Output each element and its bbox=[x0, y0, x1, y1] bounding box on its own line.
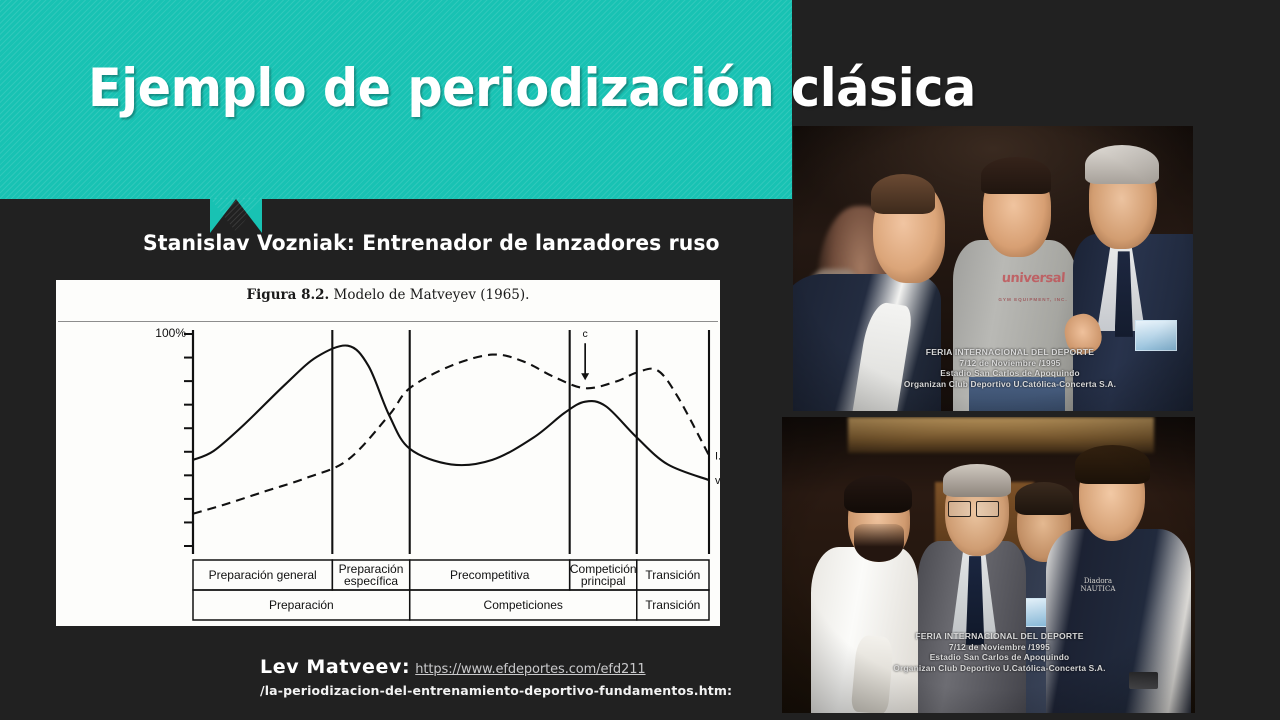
phase-label: Preparación general bbox=[209, 568, 317, 582]
phase-label: Preparación bbox=[269, 598, 334, 612]
phase-label: específica bbox=[344, 574, 398, 588]
citation-link[interactable]: https://www.efdeportes.com/efd211 bbox=[415, 662, 645, 677]
phase-divider-lines bbox=[332, 330, 709, 554]
phase-label: principal bbox=[581, 574, 626, 588]
annotation-c-label: c bbox=[583, 328, 588, 340]
citation-line-1: Lev Matveev: https://www.efdeportes.com/… bbox=[260, 655, 732, 682]
annotation-c-arrowhead bbox=[581, 373, 589, 380]
phase-label: Transición bbox=[645, 568, 700, 582]
y-axis-top-label: 100% bbox=[155, 326, 186, 340]
phase-table: Preparación generalPreparaciónespecífica… bbox=[193, 560, 709, 620]
chart-svg: 100% c I. v. Preparación generalPreparac… bbox=[56, 322, 720, 626]
figure-caption-text: Modelo de Matveyev (1965). bbox=[329, 287, 529, 303]
overlay-line: Organizan Club Deportivo U.Católica-Conc… bbox=[827, 379, 1193, 390]
intensity-curve bbox=[193, 355, 709, 514]
matveyev-chart: 100% c I. v. Preparación generalPreparac… bbox=[56, 322, 720, 626]
phase-label: Competiciones bbox=[484, 598, 563, 612]
photo-feria-group: Diadora NAUTICA FERIA INTERNACIONAL DEL … bbox=[782, 417, 1195, 713]
figure-panel: Figura 8.2. Modelo de Matveyev (1965). 1… bbox=[56, 280, 720, 626]
figure-caption: Figura 8.2. Modelo de Matveyev (1965). bbox=[56, 287, 720, 303]
citation-link-continued[interactable]: /la-periodizacion-del-entrenamiento-depo… bbox=[260, 682, 732, 700]
overlay-line: FERIA INTERNACIONAL DEL DEPORTE bbox=[827, 347, 1193, 358]
series-label-volume: v. bbox=[715, 475, 720, 487]
phase-label: Transición bbox=[645, 598, 700, 612]
photo-feria-three-men: universal GYM EQUIPMENT, INC. FERIA INTE… bbox=[793, 126, 1193, 411]
figure-caption-number: Figura 8.2. bbox=[247, 287, 330, 303]
photo-overlay-caption: FERIA INTERNACIONAL DEL DEPORTE 7/12 de … bbox=[782, 631, 1195, 673]
overlay-line: 7/12 de Noviembre /1995 bbox=[827, 358, 1193, 369]
page-title: Ejemplo de periodización clásica bbox=[88, 58, 702, 119]
citation-author: Lev Matveev: bbox=[260, 656, 410, 678]
overlay-line: Estadio San Carlos de Apoquindo bbox=[827, 368, 1193, 379]
slide-subtitle: Stanislav Vozniak: Entrenador de lanzado… bbox=[143, 231, 720, 255]
photo-overlay-caption: FERIA INTERNACIONAL DEL DEPORTE 7/12 de … bbox=[793, 347, 1193, 389]
overlay-line: Organizan Club Deportivo U.Católica-Conc… bbox=[804, 663, 1195, 674]
overlay-line: FERIA INTERNACIONAL DEL DEPORTE bbox=[804, 631, 1195, 642]
series-label-intensity: I. bbox=[715, 450, 720, 462]
phase-label: Precompetitiva bbox=[450, 568, 530, 582]
overlay-line: 7/12 de Noviembre /1995 bbox=[804, 642, 1195, 653]
overlay-line: Estadio San Carlos de Apoquindo bbox=[804, 652, 1195, 663]
citation-block: Lev Matveev: https://www.efdeportes.com/… bbox=[260, 655, 732, 700]
header-pointer-triangle bbox=[210, 199, 262, 233]
y-axis-ticks bbox=[184, 334, 193, 546]
